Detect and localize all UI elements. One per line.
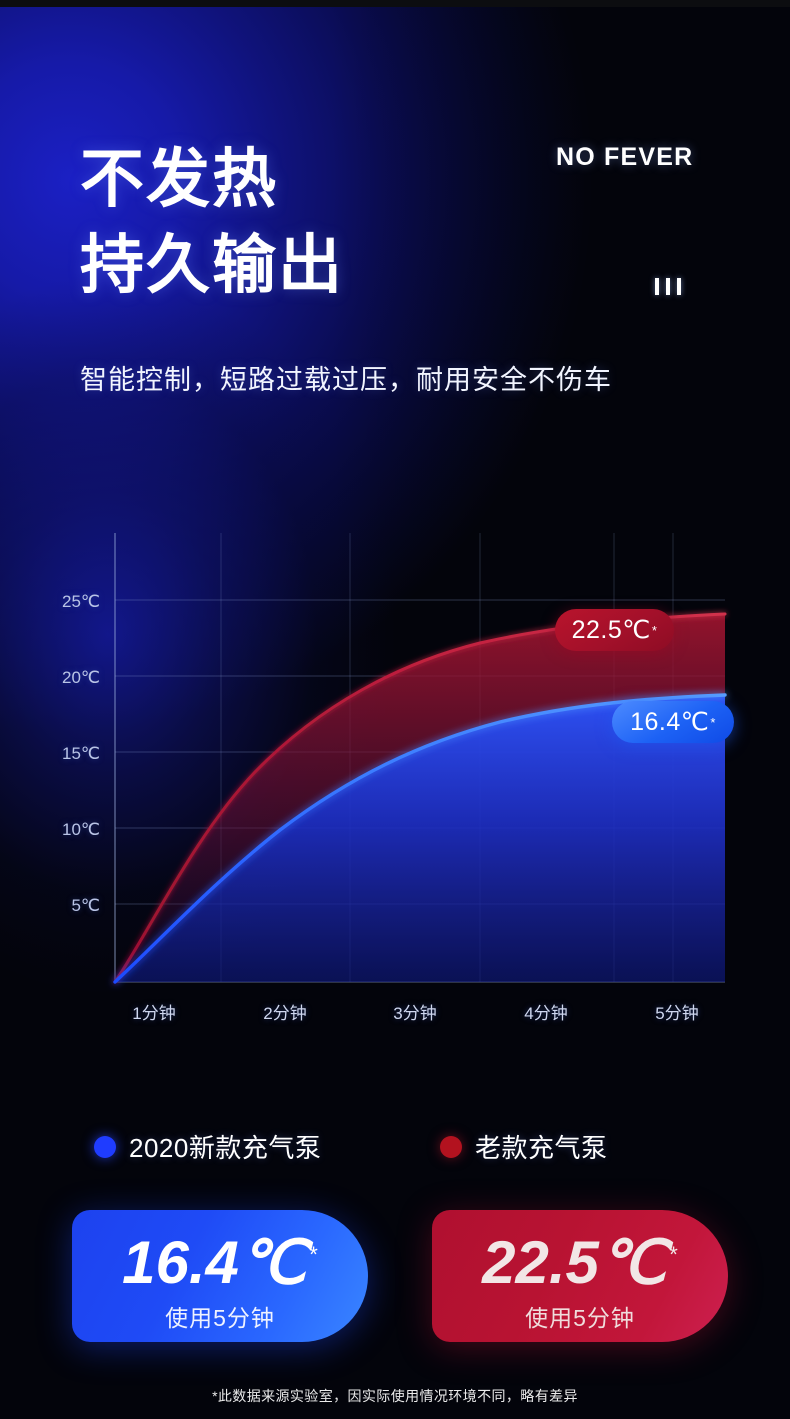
bar-1-icon <box>655 278 659 295</box>
legend-dot-red-icon <box>440 1136 462 1158</box>
bar-2-icon <box>666 278 670 295</box>
callout-old-pump-value: 22.5℃ <box>572 615 651 645</box>
top-dark-strip <box>0 0 790 7</box>
y-tick-label-25: 25℃ <box>38 592 100 612</box>
chart-canvas <box>0 500 790 1045</box>
legend-item-new-pump: 2020新款充气泵 <box>94 1128 321 1165</box>
callout-new-pump-value: 16.4℃ <box>630 707 709 737</box>
footer-disclaimer: *此数据来源实验室，因实际使用情况环境不同，略有差异 <box>0 1386 790 1406</box>
x-tick-label-2: 2分钟 <box>240 999 330 1024</box>
y-tick-label-5: 5℃ <box>38 896 100 916</box>
page-title: 不发热 持久输出 <box>80 136 344 308</box>
legend-label-new-pump: 2020新款充气泵 <box>129 1128 321 1165</box>
result-card-new-pump-value: 16.4℃* <box>122 1223 318 1295</box>
y-tick-label-15: 15℃ <box>38 744 100 764</box>
x-tick-label-5: 5分钟 <box>632 999 722 1024</box>
new-pump-number: 16.4 <box>122 1229 239 1296</box>
temperature-chart: 25℃ 20℃ 15℃ 10℃ 5℃ 1分钟 2分钟 3分钟 4分钟 5分钟 <box>0 500 790 1045</box>
y-tick-label-10: 10℃ <box>38 820 100 840</box>
legend-dot-blue-icon <box>94 1136 116 1158</box>
result-card-new-pump-caption: 使用5分钟 <box>165 1299 275 1333</box>
old-pump-number: 22.5 <box>482 1229 599 1296</box>
legend-item-old-pump: 老款充气泵 <box>440 1128 608 1165</box>
bar-3-icon <box>677 278 681 295</box>
result-card-old-pump-value: 22.5℃* <box>482 1223 678 1295</box>
headline-line-2: 持久输出 <box>80 222 344 308</box>
promo-page: 不发热 持久输出 NO FEVER 智能控制，短路过载过压，耐用安全不伤车 <box>0 0 790 1419</box>
old-pump-unit: ℃ <box>599 1229 666 1296</box>
result-card-new-pump: 16.4℃* 使用5分钟 <box>72 1210 368 1342</box>
chart-legend: 2020新款充气泵 老款充气泵 <box>0 1128 790 1170</box>
callout-new-pump: 16.4℃* <box>612 701 734 743</box>
result-card-old-pump-caption: 使用5分钟 <box>525 1299 635 1333</box>
result-cards: 16.4℃* 使用5分钟 22.5℃* 使用5分钟 <box>0 1210 790 1350</box>
three-bars-decor-icon <box>655 278 681 295</box>
callout-new-pump-mark: * <box>710 715 716 730</box>
y-tick-label-20: 20℃ <box>38 668 100 688</box>
x-tick-label-3: 3分钟 <box>370 999 460 1024</box>
callout-old-pump-mark: * <box>652 623 658 638</box>
x-tick-label-4: 4分钟 <box>501 999 591 1024</box>
callout-old-pump: 22.5℃* <box>555 609 674 651</box>
new-pump-mark: * <box>309 1242 318 1267</box>
result-card-old-pump: 22.5℃* 使用5分钟 <box>432 1210 728 1342</box>
x-tick-label-1: 1分钟 <box>109 999 199 1024</box>
page-subtitle: 智能控制，短路过载过压，耐用安全不伤车 <box>80 358 612 397</box>
old-pump-mark: * <box>669 1242 678 1267</box>
new-pump-unit: ℃ <box>239 1229 306 1296</box>
legend-label-old-pump: 老款充气泵 <box>475 1128 608 1165</box>
headline-line-1: 不发热 <box>80 143 278 215</box>
no-fever-badge: NO FEVER <box>556 143 693 172</box>
